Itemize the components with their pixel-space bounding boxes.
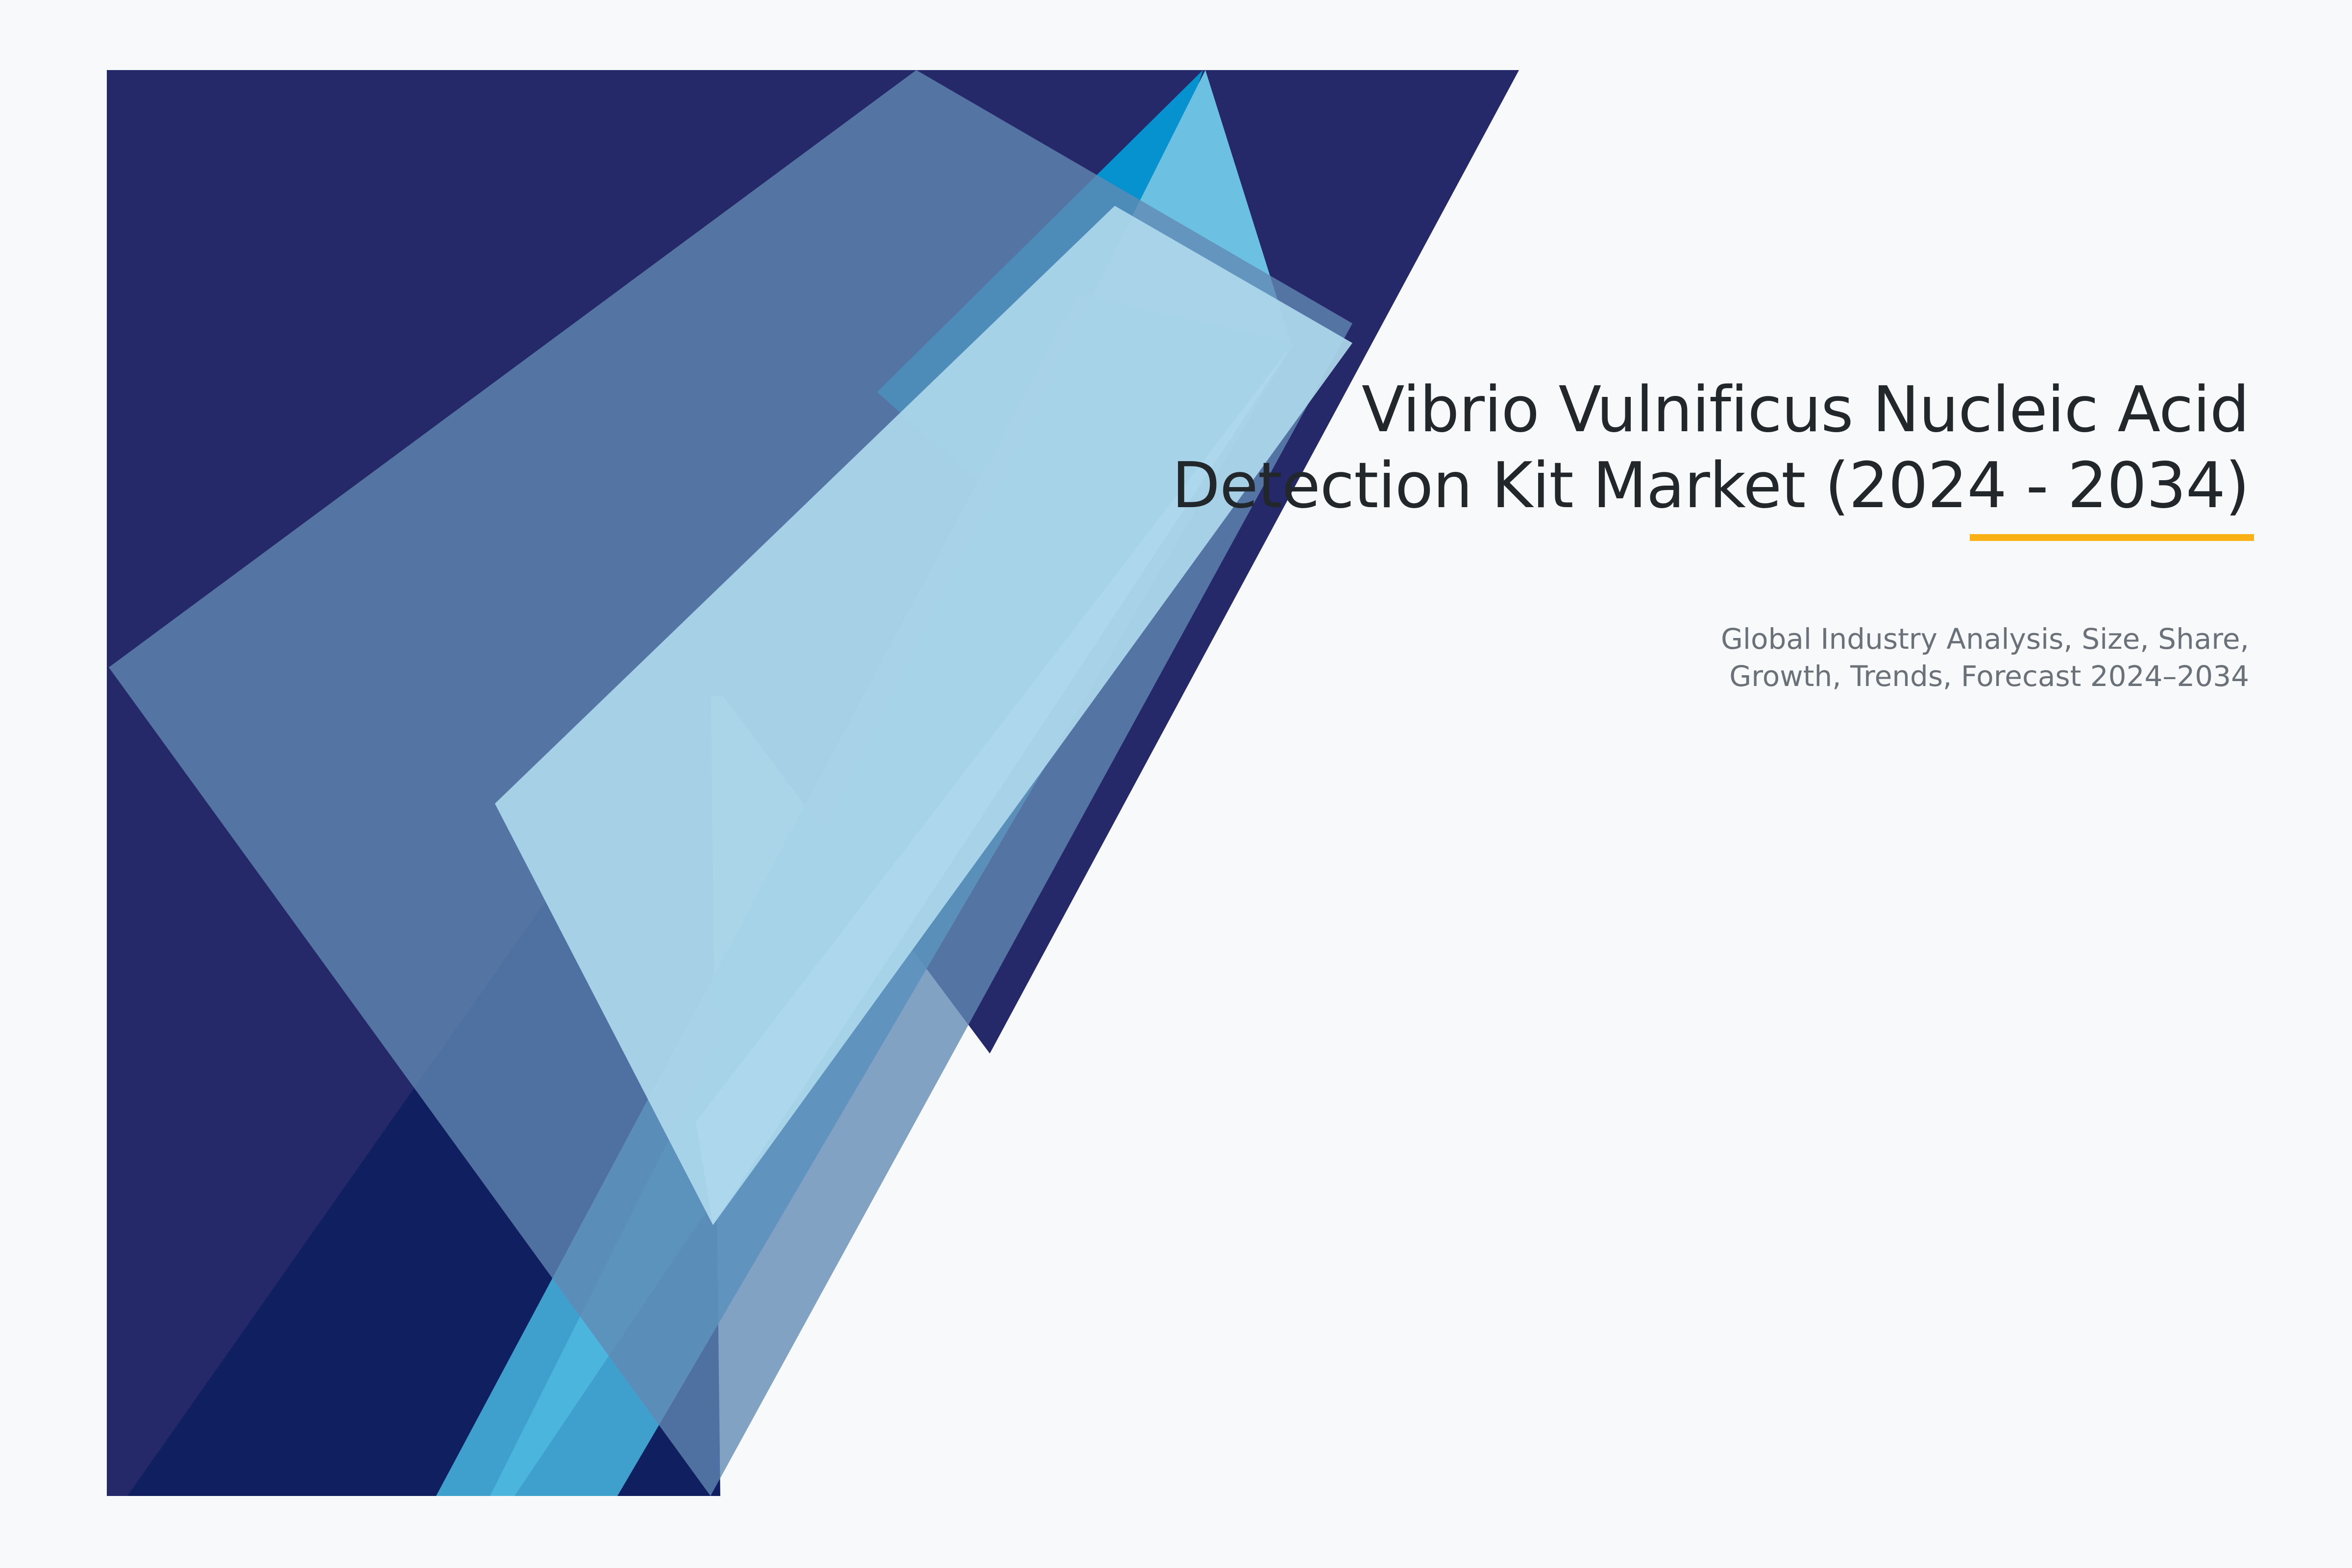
page-subtitle: Global Industry Analysis, Size, Share, G… xyxy=(833,524,2249,695)
report-cover-page: Vibrio Vulnificus Nucleic Acid Detection… xyxy=(0,0,2352,1568)
title-wrapper: Vibrio Vulnificus Nucleic Acid Detection… xyxy=(833,372,2249,524)
title-accent-underline xyxy=(1970,534,2254,541)
cover-text-block: Vibrio Vulnificus Nucleic Acid Detection… xyxy=(833,372,2249,695)
page-title: Vibrio Vulnificus Nucleic Acid Detection… xyxy=(833,372,2249,524)
abstract-polygon-graphic xyxy=(0,0,2352,1568)
